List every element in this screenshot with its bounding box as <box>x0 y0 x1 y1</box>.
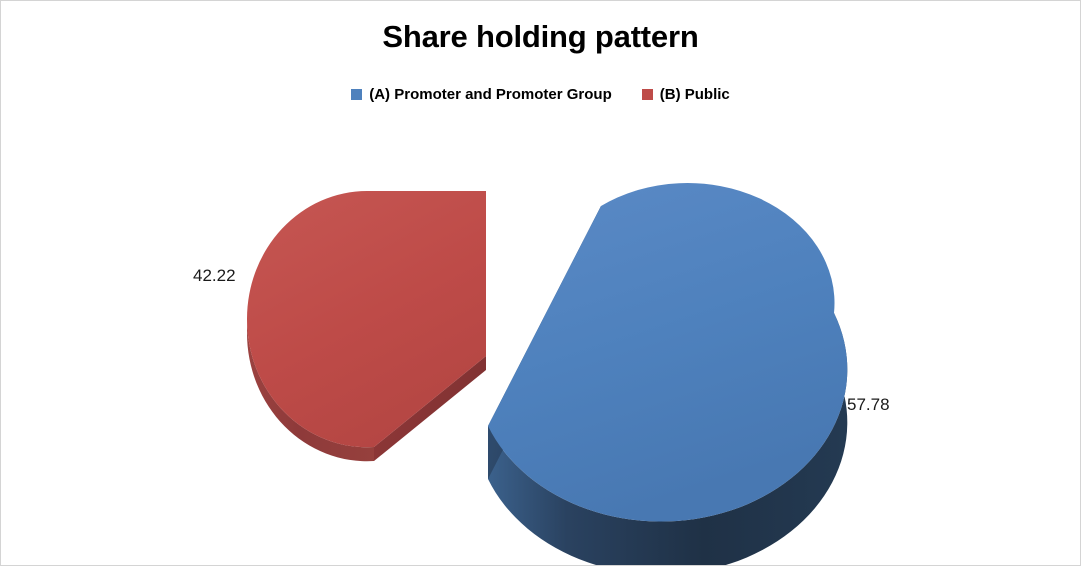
chart-container: Share holding pattern (A) Promoter and P… <box>0 0 1081 566</box>
data-label-promoter: 57.78 <box>847 395 890 415</box>
pie-slice-public[interactable] <box>247 191 486 461</box>
pie-chart-graphic <box>1 1 1081 566</box>
data-label-public: 42.22 <box>193 266 236 286</box>
pie-slice-promoter[interactable] <box>488 183 847 566</box>
pie-slice-public-top <box>247 191 486 447</box>
pie-slice-promoter-top <box>488 183 847 522</box>
